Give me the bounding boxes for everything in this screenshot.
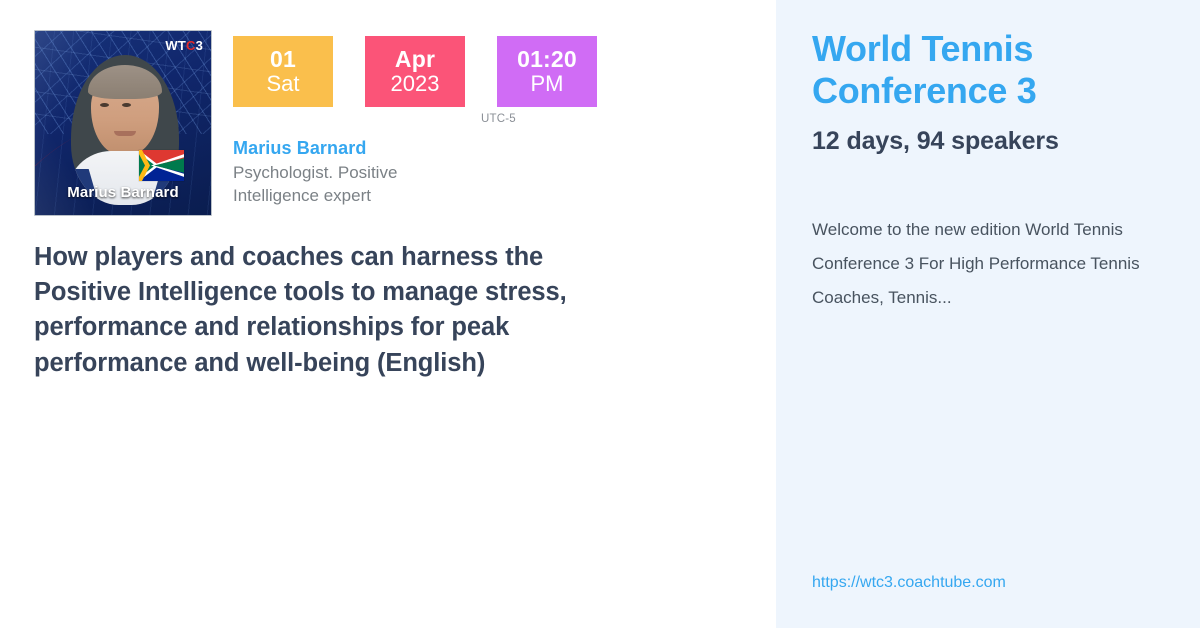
speaker-block: WTC3 (34, 30, 597, 216)
session-meta: 01 Sat Apr 2023 01:20 PM (233, 30, 597, 208)
event-promo-card: WTC3 (0, 0, 1200, 628)
date-month-badge: Apr 2023 (365, 36, 465, 107)
date-time-badges: 01 Sat Apr 2023 01:20 PM (233, 36, 597, 125)
time-meridiem: PM (531, 73, 564, 96)
wtc3-logo-suffix: 3 (196, 38, 203, 53)
portrait-eye-left (100, 103, 109, 107)
portrait-eye-right (122, 103, 131, 107)
month-badge-column: Apr 2023 (349, 36, 465, 107)
south-africa-flag-icon (139, 150, 184, 181)
wtc3-logo-accent: C (186, 38, 196, 53)
time-badge-column: 01:20 PM UTC-5 (481, 36, 597, 125)
portrait-mouth (114, 131, 136, 136)
conference-title: World Tennis Conference 3 (812, 28, 1164, 113)
conference-stats: 12 days, 94 speakers (812, 127, 1164, 156)
speaker-role: Psychologist. Positive Intelligence expe… (233, 161, 453, 208)
conference-description: Welcome to the new edition World Tennis … (812, 213, 1164, 315)
wtc3-logo: WTC3 (165, 39, 203, 52)
session-title: How players and coaches can harness the … (34, 240, 574, 381)
date-time-badge: 01:20 PM (497, 36, 597, 107)
day-number: 01 (270, 48, 296, 72)
speaker-photo-card: WTC3 (34, 30, 212, 216)
timezone-label: UTC-5 (481, 107, 597, 125)
time-value: 01:20 (517, 48, 577, 72)
speaker-name[interactable]: Marius Barnard (233, 138, 597, 159)
conference-pane: World Tennis Conference 3 12 days, 94 sp… (776, 0, 1200, 628)
photo-card-speaker-name: Marius Barnard (35, 184, 211, 201)
date-day-badge: 01 Sat (233, 36, 333, 107)
wtc3-logo-prefix: WT (165, 38, 186, 53)
year-number: 2023 (391, 73, 440, 96)
day-name: Sat (266, 73, 299, 96)
month-name: Apr (395, 48, 435, 72)
day-badge-column: 01 Sat (233, 36, 333, 107)
portrait-hair (88, 65, 162, 99)
conference-url-link[interactable]: https://wtc3.coachtube.com (812, 574, 1006, 592)
session-pane: WTC3 (0, 0, 776, 628)
